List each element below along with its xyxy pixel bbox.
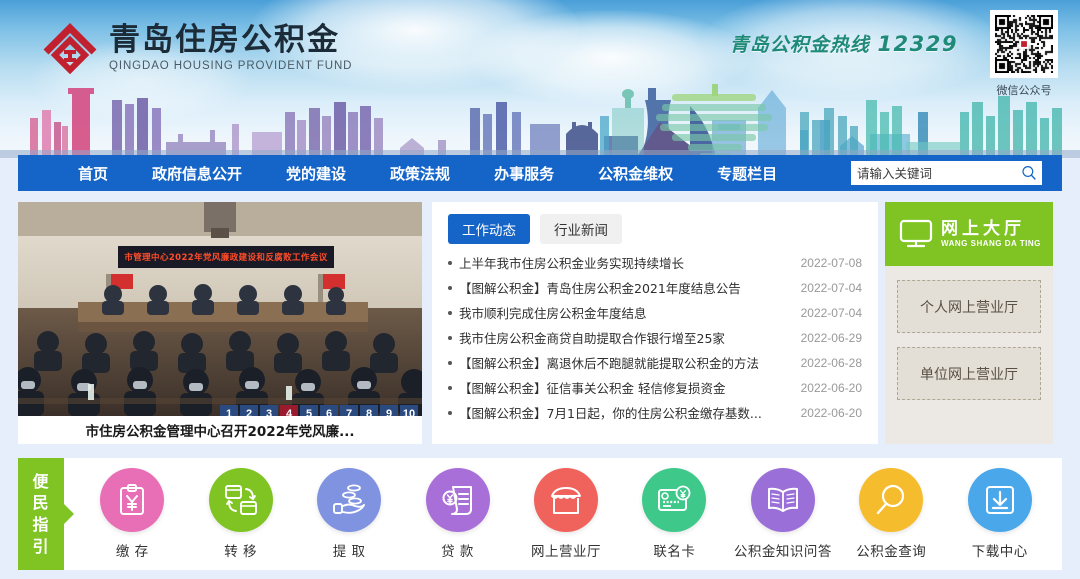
quick-loan-label: 贷 款 bbox=[441, 540, 474, 560]
quick-loan-circle bbox=[426, 468, 490, 532]
nav-item-topics[interactable]: 专题栏目 bbox=[695, 155, 799, 191]
quick-online-hall-circle bbox=[534, 468, 598, 532]
news-date: 2022-07-08 bbox=[801, 256, 862, 270]
qr-code-image bbox=[995, 15, 1053, 73]
hand-coins-icon bbox=[332, 483, 366, 517]
tab-work-updates[interactable]: 工作动态 bbox=[448, 214, 530, 244]
news-title: 我市顺利完成住房公积金年度结息 bbox=[459, 303, 791, 322]
news-list-item[interactable]: 【图解公积金】青岛住房公积金2021年度结息公告 2022-07-04 bbox=[448, 275, 862, 300]
search-icon[interactable] bbox=[1020, 164, 1038, 182]
quick-joint-card-label: 联名卡 bbox=[653, 540, 695, 560]
quick-download-circle bbox=[968, 468, 1032, 532]
tag-char: 指 bbox=[32, 514, 49, 536]
news-date: 2022-07-04 bbox=[801, 281, 862, 295]
quick-deposit-label: 缴 存 bbox=[116, 540, 149, 560]
main-navigation: 首页 政府信息公开 党的建设 政策法规 办事服务 公积金维权 专题栏目 bbox=[18, 155, 1062, 191]
shop-icon bbox=[549, 483, 583, 517]
quick-links-list: 缴 存 转 移 bbox=[78, 458, 1054, 570]
news-date: 2022-06-28 bbox=[801, 356, 862, 370]
bullet-icon bbox=[448, 311, 452, 315]
open-book-icon bbox=[766, 483, 800, 517]
site-logo[interactable]: 青岛住房公积金 QINGDAO HOUSING PROVIDENT FUND bbox=[42, 22, 352, 74]
tab-industry-news[interactable]: 行业新闻 bbox=[540, 214, 622, 244]
news-title: 【图解公积金】离退休后不跑腿就能提取公积金的方法 bbox=[459, 353, 791, 372]
news-list-item[interactable]: 【图解公积金】征信事关公积金 轻信修复损资金 2022-06-20 bbox=[448, 375, 862, 400]
quick-faq-circle bbox=[751, 468, 815, 532]
wechat-qr-code[interactable] bbox=[990, 10, 1058, 78]
quick-deposit[interactable]: 缴 存 bbox=[80, 468, 184, 560]
bullet-icon bbox=[448, 411, 452, 415]
quick-faq[interactable]: 公积金知识问答 bbox=[731, 468, 835, 560]
personal-hall-button[interactable]: 个人网上营业厅 bbox=[897, 280, 1041, 333]
news-date: 2022-06-20 bbox=[801, 381, 862, 395]
tag-char: 便 bbox=[32, 471, 49, 493]
tag-char: 民 bbox=[32, 492, 49, 514]
quick-transfer-label: 转 移 bbox=[224, 540, 257, 560]
news-list: 上半年我市住房公积金业务实现持续增长 2022-07-08 【图解公积金】青岛住… bbox=[448, 250, 862, 425]
bullet-icon bbox=[448, 336, 452, 340]
carousel-photo bbox=[18, 202, 422, 416]
nav-item-party[interactable]: 党的建设 bbox=[264, 155, 368, 191]
quick-links-bar: 便 民 指 引 缴 存 bbox=[18, 458, 1062, 570]
bullet-icon bbox=[448, 286, 452, 290]
search-box bbox=[851, 161, 1042, 185]
main-content: 市管理中心2022年党风廉政建设和反腐败工作会议 1 2 3 4 5 6 7 8… bbox=[0, 198, 1080, 450]
clipboard-yuan-icon bbox=[115, 483, 149, 517]
bullet-icon bbox=[448, 261, 452, 265]
search-input[interactable] bbox=[857, 166, 1020, 181]
quick-download-label: 下载中心 bbox=[972, 540, 1028, 560]
nav-item-gov-info[interactable]: 政府信息公开 bbox=[130, 155, 264, 191]
provident-fund-logo-icon bbox=[42, 22, 98, 74]
transfer-windows-icon bbox=[224, 483, 258, 517]
news-title: 上半年我市住房公积金业务实现持续增长 bbox=[459, 253, 791, 272]
news-title: 【图解公积金】青岛住房公积金2021年度结息公告 bbox=[459, 278, 791, 297]
quick-joint-card[interactable]: 联名卡 bbox=[622, 468, 726, 560]
led-banner-text: 市管理中心2022年党风廉政建设和反腐败工作会议 bbox=[118, 246, 334, 268]
news-title: 【图解公积金】征信事关公积金 轻信修复损资金 bbox=[459, 378, 791, 397]
news-date: 2022-06-20 bbox=[801, 406, 862, 420]
logo-title-cn: 青岛住房公积金 bbox=[109, 24, 352, 57]
monitor-icon bbox=[899, 219, 933, 249]
download-box-icon bbox=[983, 483, 1017, 517]
online-hall-panel: 网上大厅 WANG SHANG DA TING 个人网上营业厅 单位网上营业厅 bbox=[885, 202, 1053, 444]
online-hall-title-cn: 网上大厅 bbox=[941, 220, 1041, 239]
quick-transfer-circle bbox=[209, 468, 273, 532]
quick-withdraw[interactable]: 提 取 bbox=[297, 468, 401, 560]
quick-query-label: 公积金查询 bbox=[856, 540, 926, 560]
quick-withdraw-label: 提 取 bbox=[333, 540, 366, 560]
nav-item-policy[interactable]: 政策法规 bbox=[368, 155, 472, 191]
site-header: 青岛住房公积金 QINGDAO HOUSING PROVIDENT FUND 青… bbox=[0, 0, 1080, 158]
homepage: 青岛住房公积金 QINGDAO HOUSING PROVIDENT FUND 青… bbox=[0, 0, 1080, 579]
news-list-item[interactable]: 【图解公积金】离退休后不跑腿就能提取公积金的方法 2022-06-28 bbox=[448, 350, 862, 375]
news-carousel[interactable]: 市管理中心2022年党风廉政建设和反腐败工作会议 1 2 3 4 5 6 7 8… bbox=[18, 202, 422, 444]
news-list-item[interactable]: 我市顺利完成住房公积金年度结息 2022-07-04 bbox=[448, 300, 862, 325]
quick-transfer[interactable]: 转 移 bbox=[189, 468, 293, 560]
news-list-item[interactable]: 上半年我市住房公积金业务实现持续增长 2022-07-08 bbox=[448, 250, 862, 275]
quick-deposit-circle bbox=[100, 468, 164, 532]
online-hall-header: 网上大厅 WANG SHANG DA TING bbox=[885, 202, 1053, 266]
quick-download[interactable]: 下载中心 bbox=[948, 468, 1052, 560]
city-skyline-illustration bbox=[0, 82, 1080, 158]
quick-links-tag: 便 民 指 引 bbox=[18, 458, 64, 570]
hotline-number: 12329 bbox=[877, 32, 958, 56]
news-list-item[interactable]: 【图解公积金】7月1日起，你的住房公积金缴存基数... 2022-06-20 bbox=[448, 400, 862, 425]
tag-arrow-icon bbox=[64, 504, 74, 524]
meeting-photo bbox=[18, 202, 422, 416]
quick-withdraw-circle bbox=[317, 468, 381, 532]
quick-online-hall[interactable]: 网上营业厅 bbox=[514, 468, 618, 560]
news-panel: 工作动态 行业新闻 上半年我市住房公积金业务实现持续增长 2022-07-08 … bbox=[432, 202, 878, 444]
nav-item-home[interactable]: 首页 bbox=[56, 155, 130, 191]
nav-item-services[interactable]: 办事服务 bbox=[472, 155, 576, 191]
magnifier-icon bbox=[874, 483, 908, 517]
tag-char: 引 bbox=[32, 536, 49, 558]
carousel-caption[interactable]: 市住房公积金管理中心召开2022年党风廉... bbox=[18, 416, 422, 444]
hotline-label: 青岛公积金热线 bbox=[730, 34, 870, 56]
news-tabs: 工作动态 行业新闻 bbox=[448, 214, 862, 244]
nav-item-rights[interactable]: 公积金维权 bbox=[576, 155, 695, 191]
bullet-icon bbox=[448, 361, 452, 365]
company-hall-button[interactable]: 单位网上营业厅 bbox=[897, 347, 1041, 400]
quick-joint-card-circle bbox=[642, 468, 706, 532]
quick-faq-label: 公积金知识问答 bbox=[734, 540, 832, 560]
logo-title-en: QINGDAO HOUSING PROVIDENT FUND bbox=[109, 60, 352, 72]
quick-query[interactable]: 公积金查询 bbox=[839, 468, 943, 560]
hotline-text: 青岛公积金热线 12329 bbox=[730, 30, 958, 57]
quick-online-hall-label: 网上营业厅 bbox=[531, 540, 601, 560]
quick-loan[interactable]: 贷 款 bbox=[406, 468, 510, 560]
loan-document-icon bbox=[441, 483, 475, 517]
news-list-item[interactable]: 我市住房公积金商贷自助提取合作银行增至25家 2022-06-29 bbox=[448, 325, 862, 350]
news-title: 【图解公积金】7月1日起，你的住房公积金缴存基数... bbox=[459, 403, 791, 422]
news-date: 2022-06-29 bbox=[801, 331, 862, 345]
online-hall-title-en: WANG SHANG DA TING bbox=[941, 239, 1041, 248]
news-title: 我市住房公积金商贷自助提取合作银行增至25家 bbox=[459, 328, 791, 347]
bank-card-icon bbox=[657, 483, 691, 517]
quick-query-circle bbox=[859, 468, 923, 532]
bullet-icon bbox=[448, 386, 452, 390]
news-date: 2022-07-04 bbox=[801, 306, 862, 320]
